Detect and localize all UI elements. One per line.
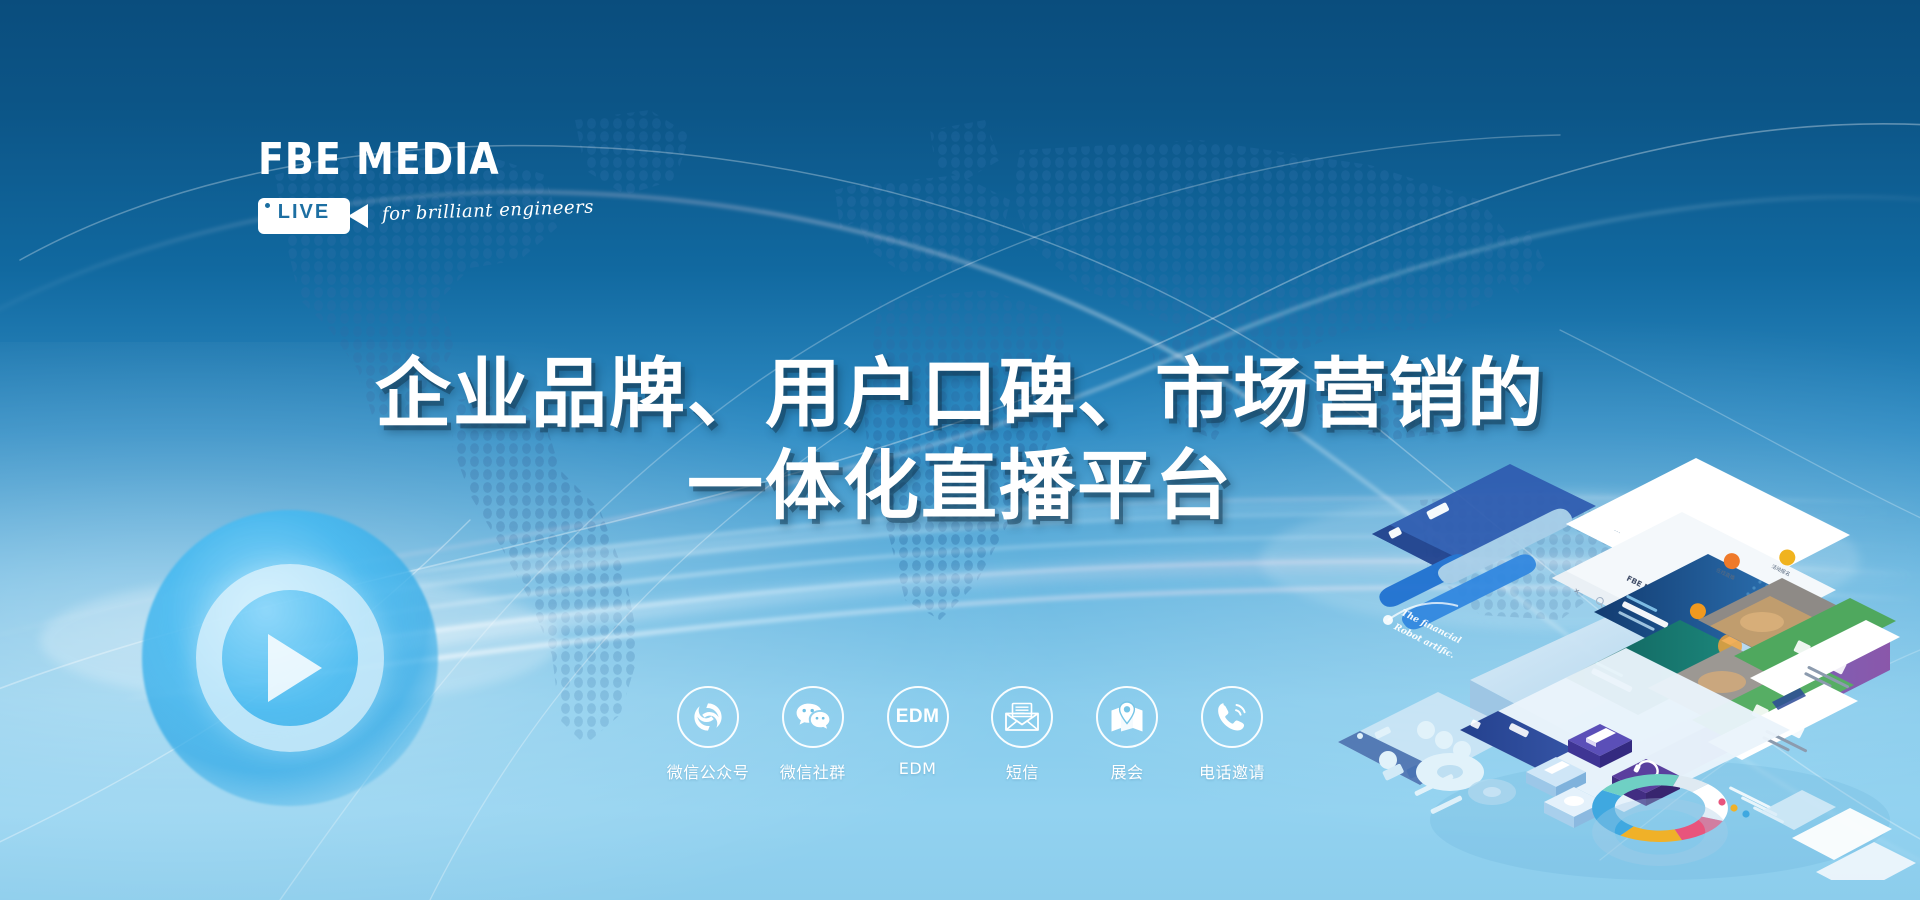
channel-label: 短信 (1006, 759, 1039, 783)
exhibition-map-pin-icon (1096, 686, 1158, 748)
brand-tagline: for brilliant engineers (382, 197, 595, 225)
isometric-device-mockups: ⋯ FBE MEDIA ✕ 搜索 (1330, 420, 1920, 880)
edm-icon: EDM (887, 686, 949, 748)
wechat-community-icon (782, 686, 844, 748)
brand-name: FBE MEDIA (258, 138, 508, 182)
channel-label: 电话邀请 (1199, 759, 1265, 783)
device-overlay-text-1: The financial (1399, 608, 1463, 647)
svg-text:⋯: ⋯ (1612, 527, 1622, 537)
channel-item-edm[interactable]: EDM EDM (870, 686, 966, 778)
svg-text:✕: ✕ (1572, 587, 1581, 597)
headline-line-1: 企业品牌、用户口碑、市场营销的 (0, 348, 1920, 440)
camera-lens-icon (348, 204, 368, 228)
channel-item-wechat-official[interactable]: 微信公众号 (660, 686, 756, 783)
light-wash-right (768, 270, 1920, 900)
live-badge-label: LIVE (258, 192, 350, 228)
channel-label: 微信社群 (780, 759, 846, 783)
device-overlay-text-2: Robot artific. (1391, 622, 1456, 661)
edm-icon-text: EDM (896, 706, 940, 728)
device-screen-brand: FBE MEDIA (1625, 574, 1670, 603)
promo-banner: FBE MEDIA LIVE for brilliant engineers 企… (0, 0, 1920, 900)
channel-item-phone-invite[interactable]: 电话邀请 (1184, 686, 1280, 783)
svg-text:搜索: 搜索 (1608, 603, 1622, 615)
play-button[interactable] (170, 538, 410, 778)
channel-icon-row: 微信公众号 微信社群 EDM EDM (660, 686, 1280, 798)
wechat-official-icon (677, 686, 739, 748)
sms-envelope-icon (991, 686, 1053, 748)
channel-item-wechat-community[interactable]: 微信社群 (765, 686, 861, 783)
channel-label: 展会 (1111, 759, 1144, 783)
channel-item-sms[interactable]: 短信 (974, 686, 1070, 783)
headline-block: 企业品牌、用户口碑、市场营销的 一体化直播平台 (0, 348, 1920, 532)
brand-logo[interactable]: FBE MEDIA LIVE for brilliant engineers (258, 138, 518, 238)
svg-text:活动报名: 活动报名 (1770, 563, 1791, 578)
svg-text:在线直播: 在线直播 (1715, 567, 1736, 582)
channel-item-exhibition[interactable]: 展会 (1079, 686, 1175, 783)
channel-label: EDM (899, 759, 937, 778)
play-triangle-icon (268, 634, 322, 702)
phone-call-icon (1201, 686, 1263, 748)
channel-label: 微信公众号 (667, 759, 750, 783)
